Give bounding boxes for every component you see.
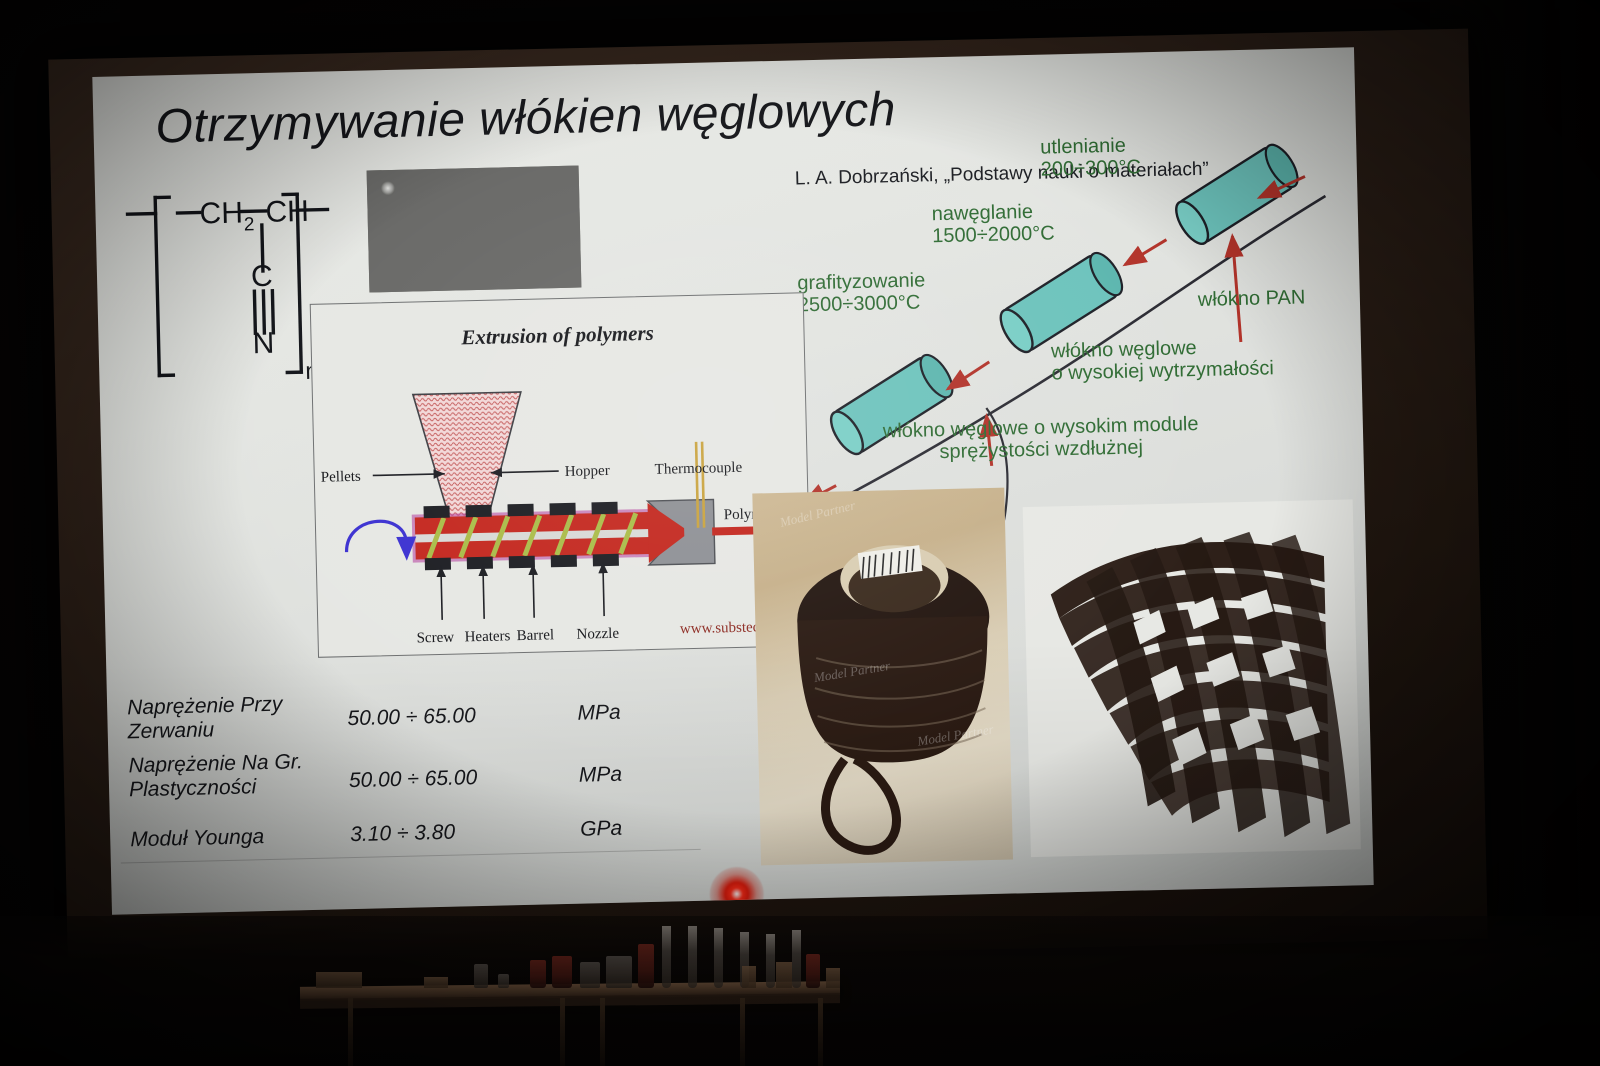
bench-flask — [474, 964, 488, 988]
bench-test-tube — [688, 926, 697, 988]
process-label-carburizing: nawęglanie 1500÷2000°C — [932, 200, 1055, 248]
projected-slide-photo: Otrzymywanie włókien węglowych — [0, 0, 1600, 1066]
bench-box — [316, 972, 362, 988]
polyacrylonitrile-structure: CH 2 CH C N n — [121, 171, 336, 386]
hopper-shape — [413, 392, 524, 521]
presentation-slide: Otrzymywanie włókien węglowych — [92, 47, 1373, 914]
bench-bottle — [638, 944, 654, 988]
bench-leg — [560, 998, 565, 1066]
bench-test-tube — [714, 928, 723, 988]
property-value: 3.10 ÷ 3.80 — [350, 821, 455, 847]
bench-test-tube — [766, 934, 775, 988]
process-label-pan-fiber: włókno PAN — [1198, 286, 1306, 311]
bench-jug — [606, 956, 632, 988]
atom-label-ch: CH — [265, 195, 309, 229]
bench-flask — [498, 974, 509, 988]
bench-bottle — [806, 954, 820, 988]
label-nozzle: Nozzle — [576, 626, 619, 643]
property-unit: GPa — [580, 817, 623, 842]
label-screw: Screw — [416, 630, 454, 647]
carbon-fiber-spool-photo: Model Partner Model Partner Model Partne… — [752, 488, 1013, 866]
bench-bottle — [552, 956, 572, 988]
property-name: Moduł Younga — [130, 823, 370, 853]
label-thermocouple: Thermocouple — [655, 460, 743, 478]
bench-beaker — [580, 962, 600, 988]
bench-box — [776, 962, 792, 988]
bench-leg — [348, 998, 353, 1066]
atom-label-c: C — [251, 260, 273, 294]
property-unit: MPa — [579, 763, 623, 788]
bench-bottle — [530, 960, 546, 988]
extrusion-diagram-panel: Extrusion of polymers — [310, 292, 812, 658]
label-heaters: Heaters — [464, 628, 510, 645]
property-value: 50.00 ÷ 65.00 — [349, 766, 478, 793]
rotation-arrow — [346, 520, 417, 562]
label-barrel: Barrel — [516, 627, 554, 644]
property-unit: MPa — [577, 701, 621, 726]
woven-carbon-fabric-photo — [1023, 499, 1361, 857]
bench-leg — [818, 998, 823, 1066]
process-label-graphitizing: grafityzowanie 2500÷3000°C — [797, 269, 926, 317]
bench-box — [826, 968, 840, 988]
property-table: Naprężenie Przy Zerwaniu 50.00 ÷ 65.00 M… — [97, 682, 721, 887]
atom-subscript-2: 2 — [244, 214, 255, 235]
bench-box — [742, 966, 756, 988]
property-value: 50.00 ÷ 65.00 — [347, 704, 476, 731]
polymer-pellets-photo — [367, 166, 582, 293]
bench-box — [424, 977, 448, 988]
process-label-high-modulus: włókno węglowe o wysokim module sprężyst… — [883, 413, 1200, 465]
bench-test-tube — [662, 926, 671, 988]
label-pellets: Pellets — [321, 469, 362, 486]
property-name: Naprężenie Przy Zerwaniu — [127, 691, 368, 745]
label-hopper: Hopper — [565, 463, 610, 480]
process-label-high-strength: włókno węglowe o wysokiej wytrzymałości — [1051, 335, 1274, 385]
bench-test-tube — [792, 930, 801, 988]
svg-text:Model Partner: Model Partner — [777, 497, 857, 530]
bench-leg — [740, 998, 745, 1066]
pellets-texture — [367, 166, 582, 293]
process-label-oxidation: utlenianie 200÷300°C — [1040, 134, 1141, 181]
atom-label-n: N — [252, 327, 274, 361]
table-separator — [121, 849, 701, 864]
cylinder-pan — [1170, 140, 1304, 249]
atom-label-ch2: CH — [199, 196, 243, 230]
property-name: Naprężenie Na Gr. Plastyczności — [128, 749, 369, 803]
bench-leg — [600, 998, 605, 1066]
loose-fiber-loop — [824, 758, 897, 851]
